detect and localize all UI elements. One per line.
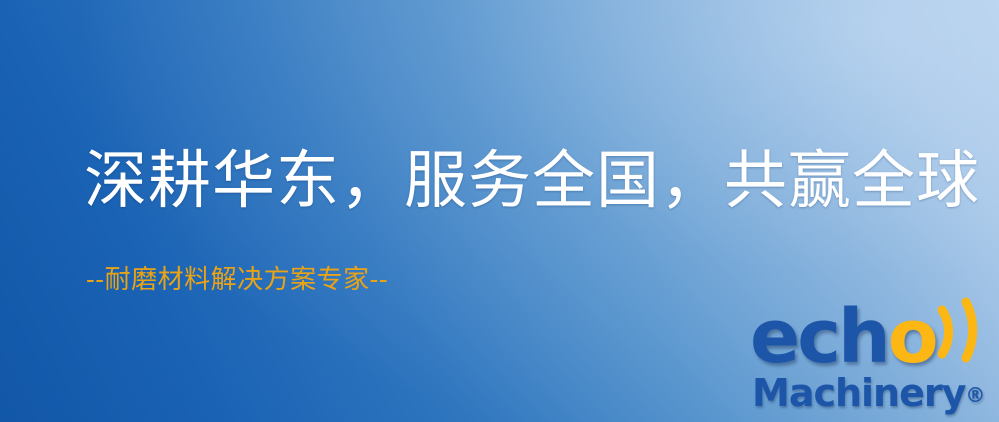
echo-signal-arc-outer	[966, 302, 973, 358]
logo-wordmark: echo	[750, 300, 936, 374]
banner-subtitle: --耐磨材料解决方案专家--	[86, 265, 388, 296]
banner-headline: 深耕华东，服务全国，共赢全球	[84, 146, 980, 217]
logo-mark: echo Machinery®	[744, 296, 999, 422]
logo-tagline-text: Machinery	[752, 371, 965, 415]
company-logo[interactable]: echo Machinery®	[744, 296, 999, 422]
promo-banner: 深耕华东，服务全国，共赢全球 --耐磨材料解决方案专家-- echo Machi…	[0, 0, 999, 422]
registered-trademark-icon: ®	[965, 383, 985, 407]
logo-tagline: Machinery®	[752, 374, 985, 412]
logo-wordmark-prefix: ech	[750, 294, 888, 380]
echo-signal-arc-inner	[942, 310, 949, 354]
banner-content: 深耕华东，服务全国，共赢全球 --耐磨材料解决方案专家-- echo Machi…	[0, 0, 999, 422]
echo-signal-arcs-icon	[926, 292, 999, 368]
